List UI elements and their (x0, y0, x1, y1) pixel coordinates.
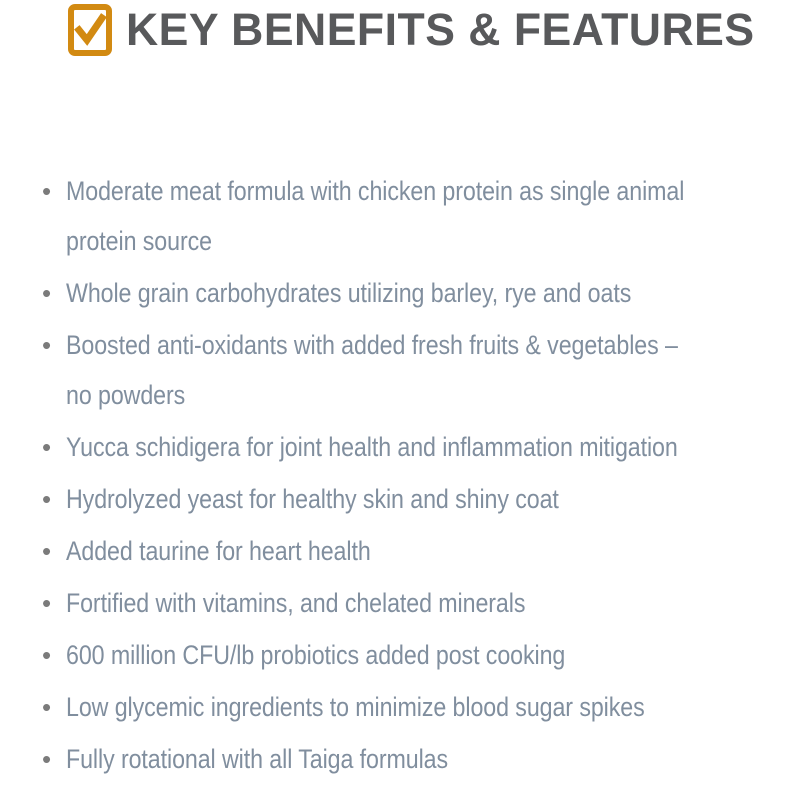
list-item-label: Boosted anti-oxidants with added fresh f… (66, 320, 690, 420)
list-item: • Boosted anti-oxidants with added fresh… (36, 320, 792, 420)
list-item-label: Fully rotational with all Taiga formulas (66, 734, 690, 784)
page-title: KEY BENEFITS & FEATURES (126, 4, 755, 56)
list-item: • Fortified with vitamins, and chelated … (36, 578, 792, 628)
bullet-icon: • (36, 320, 66, 370)
list-item: • Moderate meat formula with chicken pro… (36, 166, 792, 266)
bullet-icon: • (36, 166, 66, 216)
list-item-label: Low glycemic ingredients to minimize blo… (66, 682, 690, 732)
list-item-label: Moderate meat formula with chicken prote… (66, 166, 690, 266)
list-item: • 600 million CFU/lb probiotics added po… (36, 630, 792, 680)
header: KEY BENEFITS & FEATURES (68, 4, 761, 56)
bullet-icon: • (36, 630, 66, 680)
list-item: • Whole grain carbohydrates utilizing ba… (36, 268, 792, 318)
list-item-label: Added taurine for heart health (66, 526, 690, 576)
bullet-icon: • (36, 526, 66, 576)
slide-root: KEY BENEFITS & FEATURES • Moderate meat … (0, 0, 800, 800)
bullet-icon: • (36, 734, 66, 784)
list-item: • Yucca schidigera for joint health and … (36, 422, 792, 472)
checkbox-checked-icon (68, 4, 112, 56)
bullet-icon: • (36, 682, 66, 732)
list-item-label: Hydrolyzed yeast for healthy skin and sh… (66, 474, 690, 524)
list-item-label: Whole grain carbohydrates utilizing barl… (66, 268, 690, 318)
bullet-icon: • (36, 474, 66, 524)
list-item: • Fully rotational with all Taiga formul… (36, 734, 792, 784)
bullet-icon: • (36, 422, 66, 472)
list-item-label: 600 million CFU/lb probiotics added post… (66, 630, 690, 680)
list-item-label: Yucca schidigera for joint health and in… (66, 422, 690, 472)
bullet-icon: • (36, 578, 66, 628)
key-benefits-list: • Moderate meat formula with chicken pro… (36, 166, 792, 786)
list-item: • Added taurine for heart health (36, 526, 792, 576)
list-item-label: Fortified with vitamins, and chelated mi… (66, 578, 690, 628)
list-item: • Hydrolyzed yeast for healthy skin and … (36, 474, 792, 524)
bullet-icon: • (36, 268, 66, 318)
list-item: • Low glycemic ingredients to minimize b… (36, 682, 792, 732)
